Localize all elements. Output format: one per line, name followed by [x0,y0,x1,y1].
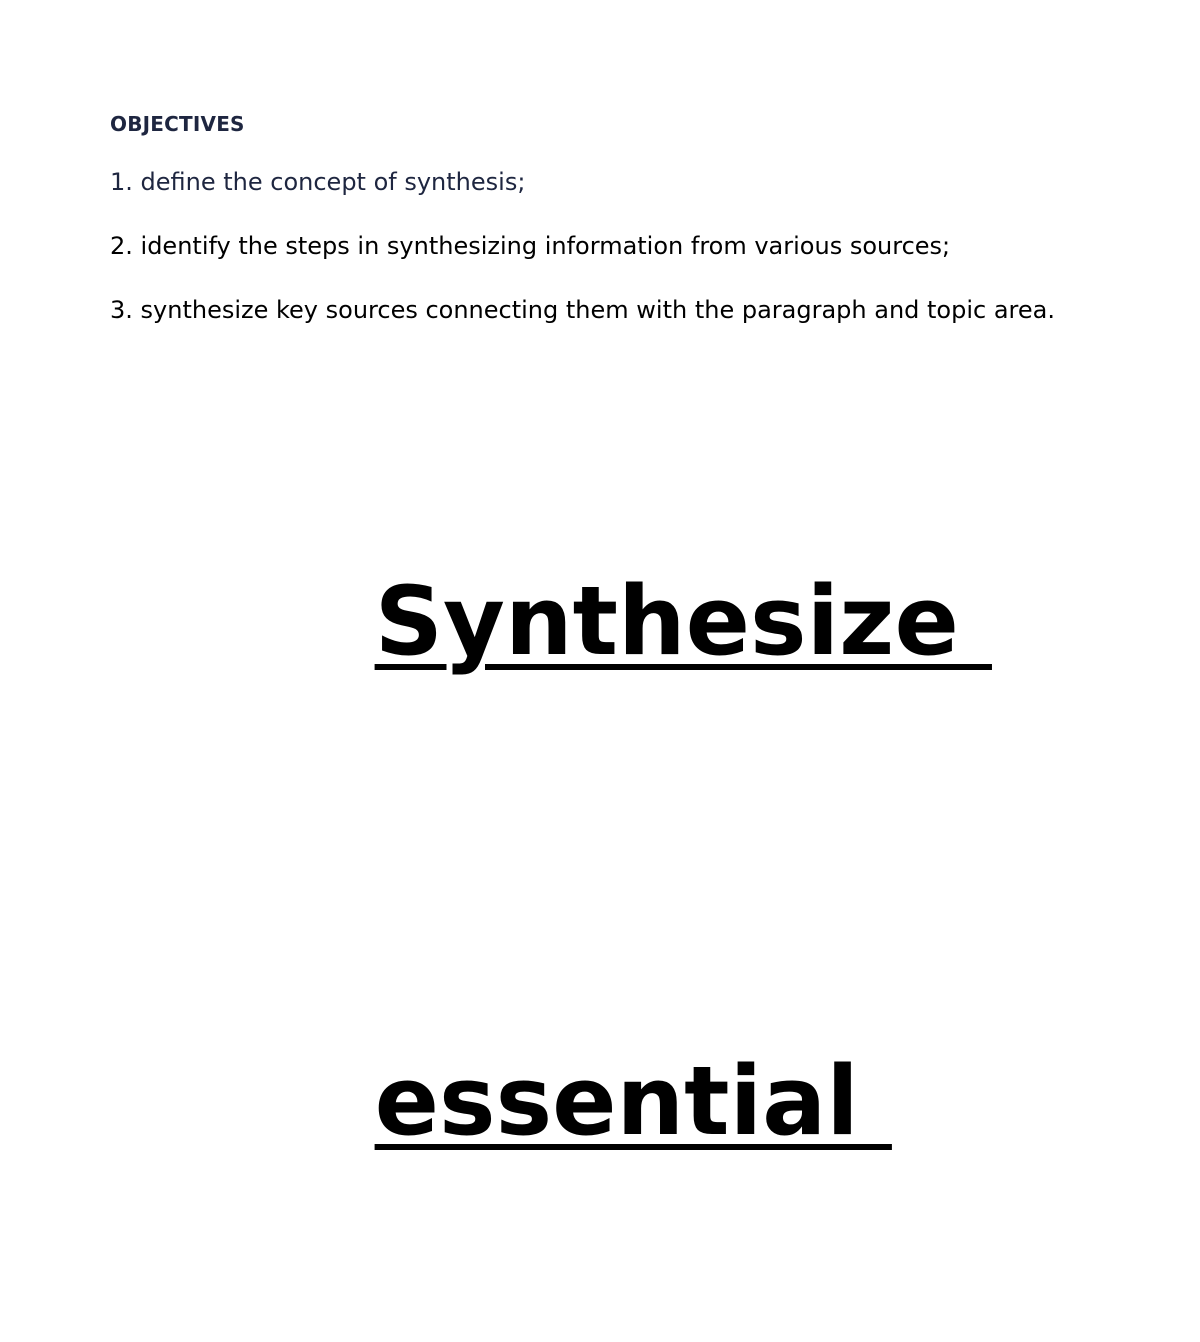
emphasis-block: Synthesize essential [110,382,1075,1342]
slide-canvas: OBJECTIVES 1. define the concept of synt… [0,0,1200,927]
objective-item-2: 2. identify the steps in synthesizing in… [110,228,1075,264]
emphasis-text-synthesize: Synthesize [375,567,992,677]
emphasis-text-essential: essential [375,1047,892,1157]
objective-item-3: 3. synthesize key sources connecting the… [110,292,1075,328]
emphasis-line-essential: essential [110,862,1075,1342]
page-title: OBJECTIVES [110,112,1075,136]
slide-content: OBJECTIVES 1. define the concept of synt… [110,112,1075,1342]
objective-item-1: 1. define the concept of synthesis; [110,164,1075,200]
emphasis-line-synthesize: Synthesize [110,382,1075,862]
